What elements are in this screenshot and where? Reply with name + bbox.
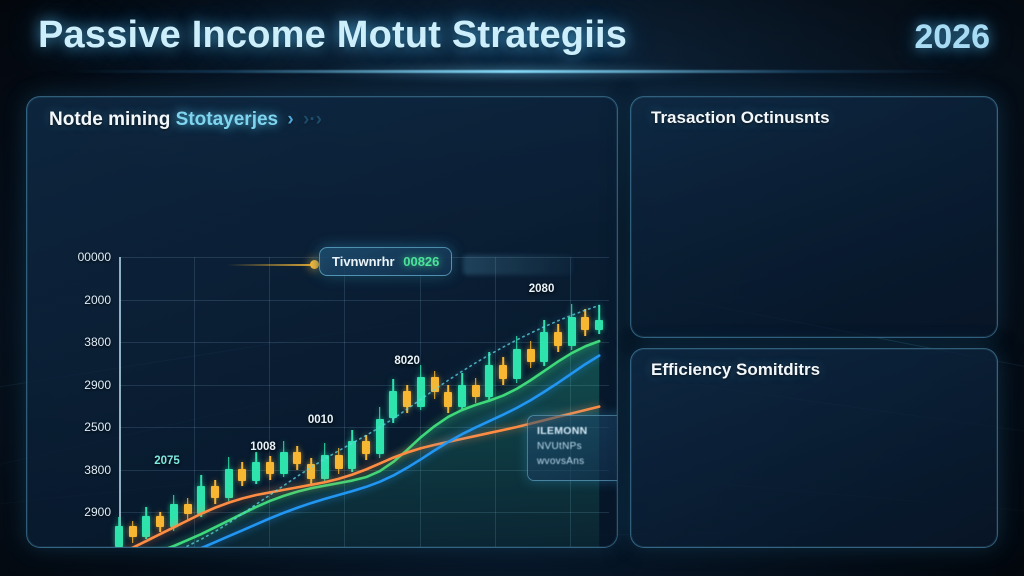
y-axis-label: 2900 [84, 505, 111, 519]
main-plot-area[interactable]: 0000020003800290025003800290029000012002… [119, 257, 609, 548]
page-title: Passive Income Motut Strategiis [38, 14, 627, 57]
data-label: 2080 [529, 283, 555, 295]
header-divider [0, 70, 1024, 73]
main-trend-lines [119, 257, 609, 548]
panel-main-subtitle: Stotayerjes [176, 109, 278, 130]
panel-efficiency[interactable]: Efficiency Somitditrs Ooounua Doci3 2001… [630, 348, 998, 548]
data-label: 2075 [154, 455, 180, 467]
panel-transaction-counts[interactable]: Trasaction Octinusnts 820390300200900300… [630, 96, 998, 338]
y-axis-label: 3800 [84, 463, 111, 477]
y-axis-label: 2900 [84, 548, 111, 549]
panel-node-mining[interactable]: Notde mining Stotayerjes › ›·› 000002000… [26, 96, 618, 548]
panel-main-title: Notde mining Stotayerjes › ›·› [49, 109, 322, 131]
chevron-right-dim-icon: ›·› [303, 109, 322, 130]
y-axis-label: 3800 [84, 335, 111, 349]
y-axis-label: 00000 [78, 250, 111, 264]
y-axis-label: 2900 [84, 378, 111, 392]
tooltip-value: 00826 [403, 254, 439, 269]
data-label: 8020 [394, 355, 420, 367]
panel-bars-title: Efficiency Somitditrs [651, 360, 820, 380]
tooltip-anchor-dot [310, 260, 319, 269]
main-legend-line-1: ILEMONN [537, 424, 618, 439]
tooltip-trail-glow [463, 255, 573, 275]
y-axis-label: 2000 [84, 293, 111, 307]
tooltip-label: Tivnwnrhr [332, 254, 395, 269]
data-label: 0010 [308, 414, 334, 426]
data-label: 1008 [250, 441, 276, 453]
main-legend-box[interactable]: ILEMONN NVUtNPs wvovsAns [527, 415, 618, 481]
tooltip-leader-line [227, 264, 311, 266]
header: Passive Income Motut Strategiis 2026 [0, 0, 1024, 88]
chart-tooltip: Tivnwnrhr 00826 [319, 247, 452, 276]
panel-line-title: Trasaction Octinusnts [651, 108, 830, 128]
main-legend-line-3: wvovsAns [537, 454, 618, 469]
panel-main-title-text: Notde mining [49, 109, 170, 130]
chevron-right-icon[interactable]: › [287, 109, 293, 130]
year-badge: 2026 [914, 18, 990, 57]
main-legend-line-2: NVUtNPs [537, 439, 618, 454]
y-axis-label: 2500 [84, 420, 111, 434]
